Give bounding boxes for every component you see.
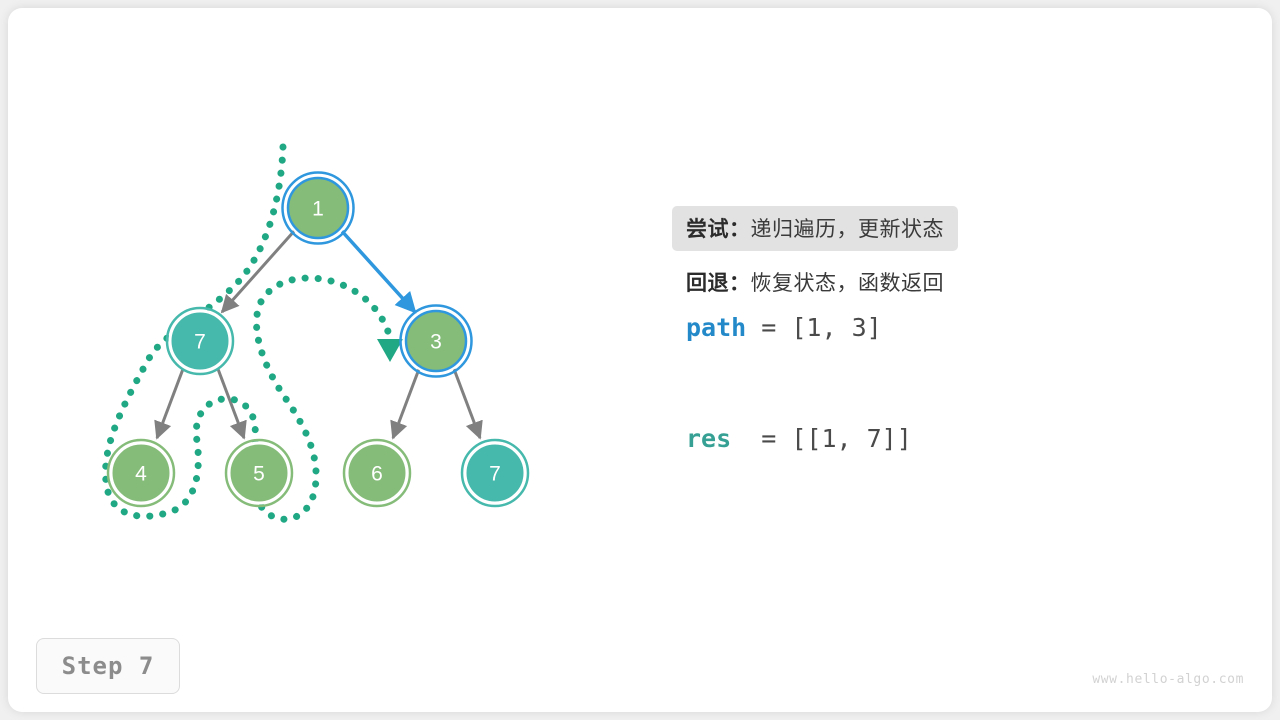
screenshot-root: 1 7 3 4 xyxy=(0,0,1280,720)
spacer-2 xyxy=(686,297,1226,313)
try-line-text: 递归遍历，更新状态 xyxy=(751,217,945,241)
spacer-1 xyxy=(686,251,1226,267)
res-variable-name: res xyxy=(686,424,731,453)
tree-node-5[interactable]: 5 xyxy=(226,440,292,506)
try-line-wrapper: 尝试：递归遍历，更新状态 xyxy=(686,206,1226,251)
edge-7-to-5 xyxy=(218,369,244,438)
watermark: www.hello-algo.com xyxy=(1092,672,1244,687)
try-line-label: 尝试： xyxy=(686,217,751,241)
tree-node-6[interactable]: 6 xyxy=(344,440,410,506)
tree-node-1[interactable]: 1 xyxy=(283,173,354,244)
spacer-3 xyxy=(686,342,1226,424)
tree-node-7-right[interactable]: 7 xyxy=(462,440,528,506)
info-panel: 尝试：递归遍历，更新状态 回退：恢复状态，函数返回 path = [1, 3] … xyxy=(686,206,1226,453)
backtrack-line-text: 恢复状态，函数返回 xyxy=(751,271,945,295)
res-variable-value: = [[1, 7]] xyxy=(731,424,912,453)
tree-node-7-left[interactable]: 7 xyxy=(167,308,233,374)
tree-nodes: 1 7 3 4 xyxy=(108,173,528,507)
edge-7-to-4 xyxy=(157,369,183,438)
trace-arrow-head xyxy=(377,339,403,362)
backtrack-line: 回退：恢复状态，函数返回 xyxy=(686,267,1226,297)
path-variable-value: = [1, 3] xyxy=(746,313,881,342)
edge-1-to-3-active xyxy=(340,229,415,312)
step-badge: Step 7 xyxy=(36,638,180,694)
tree-node-4[interactable]: 4 xyxy=(108,440,174,506)
res-variable-line: res = [[1, 7]] xyxy=(686,424,1226,453)
step-badge-label: Step 7 xyxy=(62,652,155,680)
path-variable-name: path xyxy=(686,313,746,342)
try-line: 尝试：递归遍历，更新状态 xyxy=(672,206,958,251)
path-variable-line: path = [1, 3] xyxy=(686,313,1226,342)
edge-3-to-6 xyxy=(393,369,419,438)
edge-3-to-7 xyxy=(454,369,480,438)
tree-node-3[interactable]: 3 xyxy=(401,306,472,377)
backtrack-line-label: 回退： xyxy=(686,271,751,295)
